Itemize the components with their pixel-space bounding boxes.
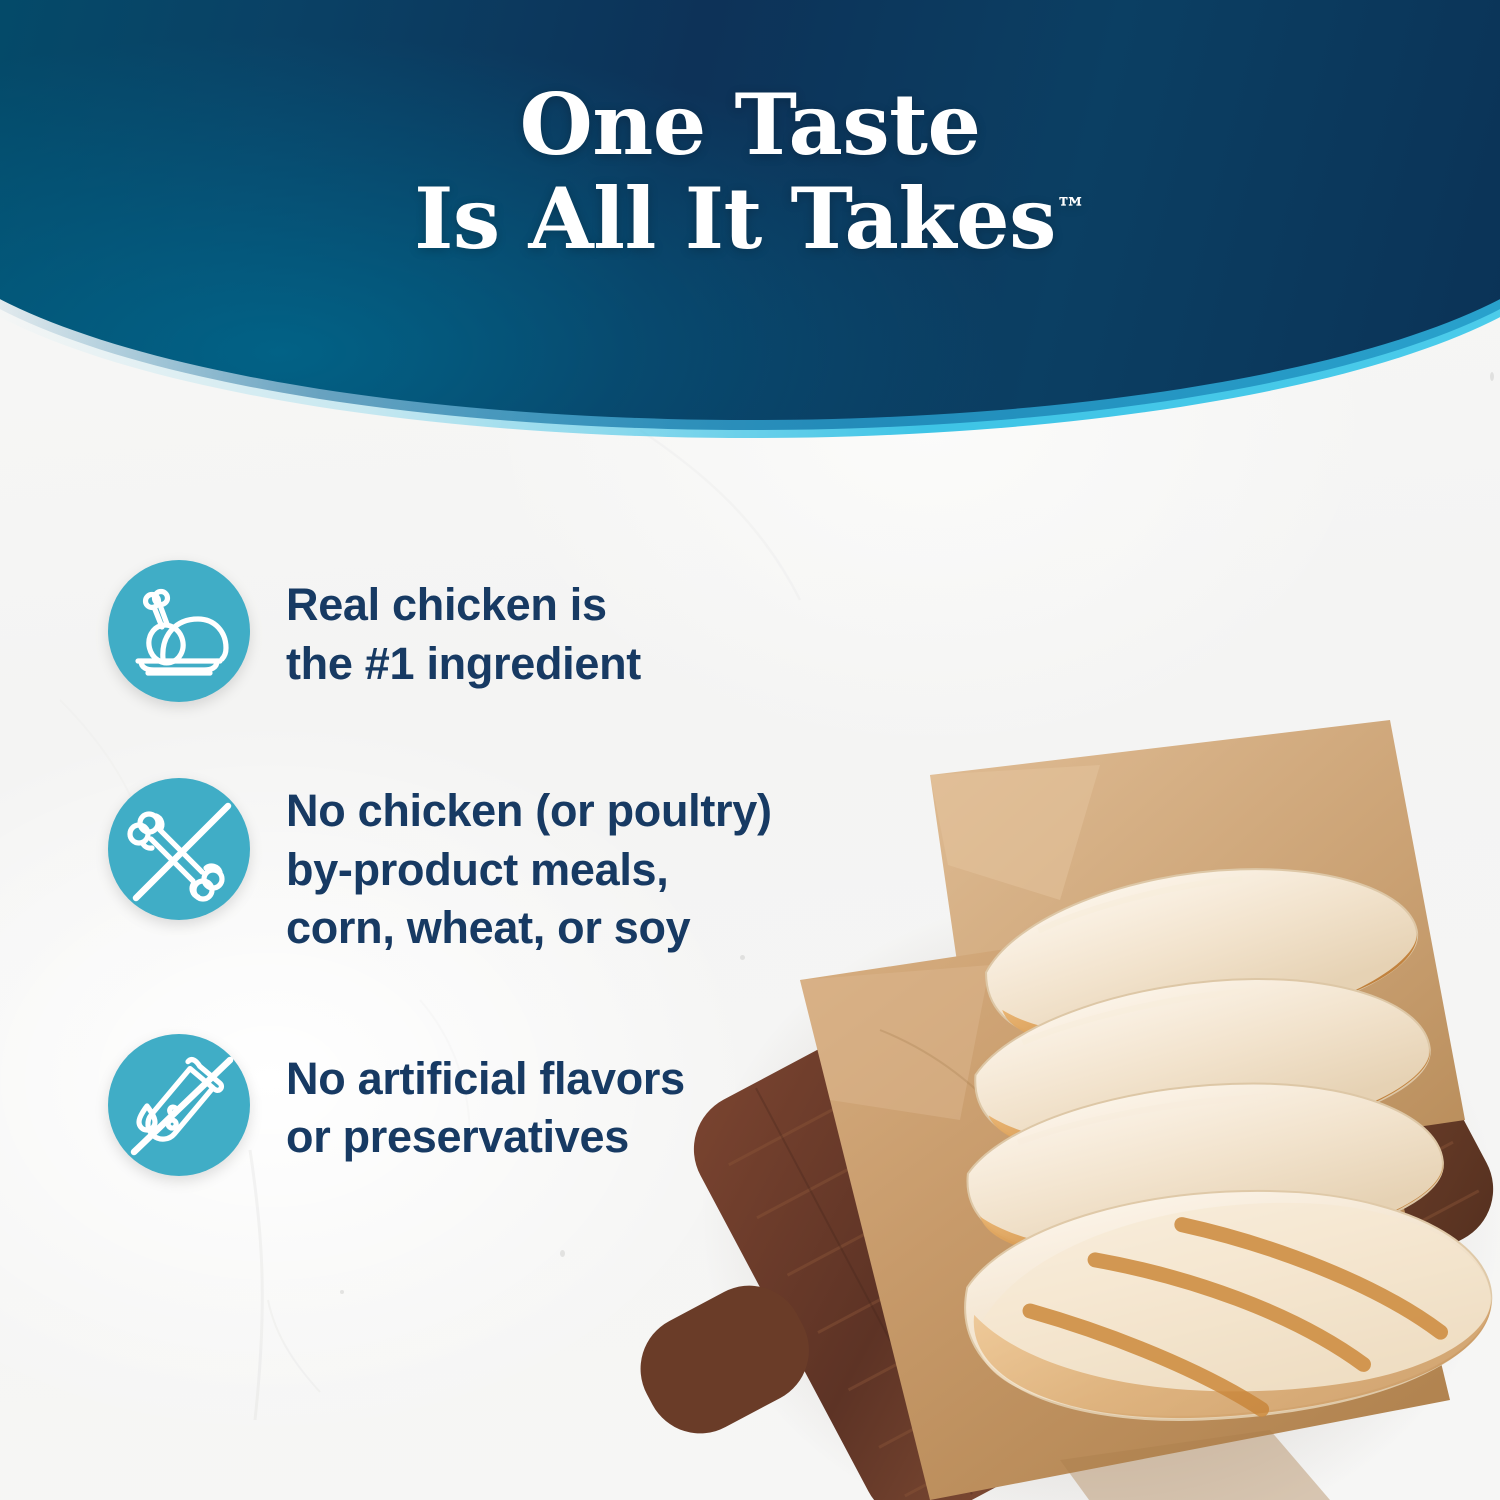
benefit-line: No artificial flavors [286,1050,685,1109]
marble-speck [1490,372,1494,381]
no-test-tube-icon [108,1034,250,1176]
benefit-item: Real chicken is the #1 ingredient [108,560,898,702]
benefit-line: or preservatives [286,1108,685,1167]
page-title: One Taste Is All It Takes™ [0,0,1500,266]
benefit-text: No artificial flavors or preservatives [286,1034,685,1167]
benefit-item: No chicken (or poultry) by-product meals… [108,778,898,958]
benefit-text: No chicken (or poultry) by-product meals… [286,778,772,958]
roast-chicken-platter-icon [108,560,250,702]
headline-line-1: One Taste [0,78,1500,172]
promo-image: One Taste Is All It Takes™ [0,0,1500,1500]
benefit-text: Real chicken is the #1 ingredient [286,560,641,693]
benefit-line: Real chicken is [286,576,641,635]
marble-speck [560,1250,565,1257]
benefit-line: No chicken (or poultry) [286,782,772,841]
benefits-list: Real chicken is the #1 ingredient [108,560,898,1176]
marble-speck [340,1290,344,1294]
headline-line-2: Is All It Takes [414,169,1056,268]
benefit-line: corn, wheat, or soy [286,899,772,958]
benefit-item: No artificial flavors or preservatives [108,1034,898,1176]
benefit-line: the #1 ingredient [286,635,641,694]
no-bone-icon [108,778,250,920]
headline-line-2-wrap: Is All It Takes™ [414,172,1086,266]
trademark-symbol: ™ [1056,192,1086,227]
benefit-line: by-product meals, [286,841,772,900]
